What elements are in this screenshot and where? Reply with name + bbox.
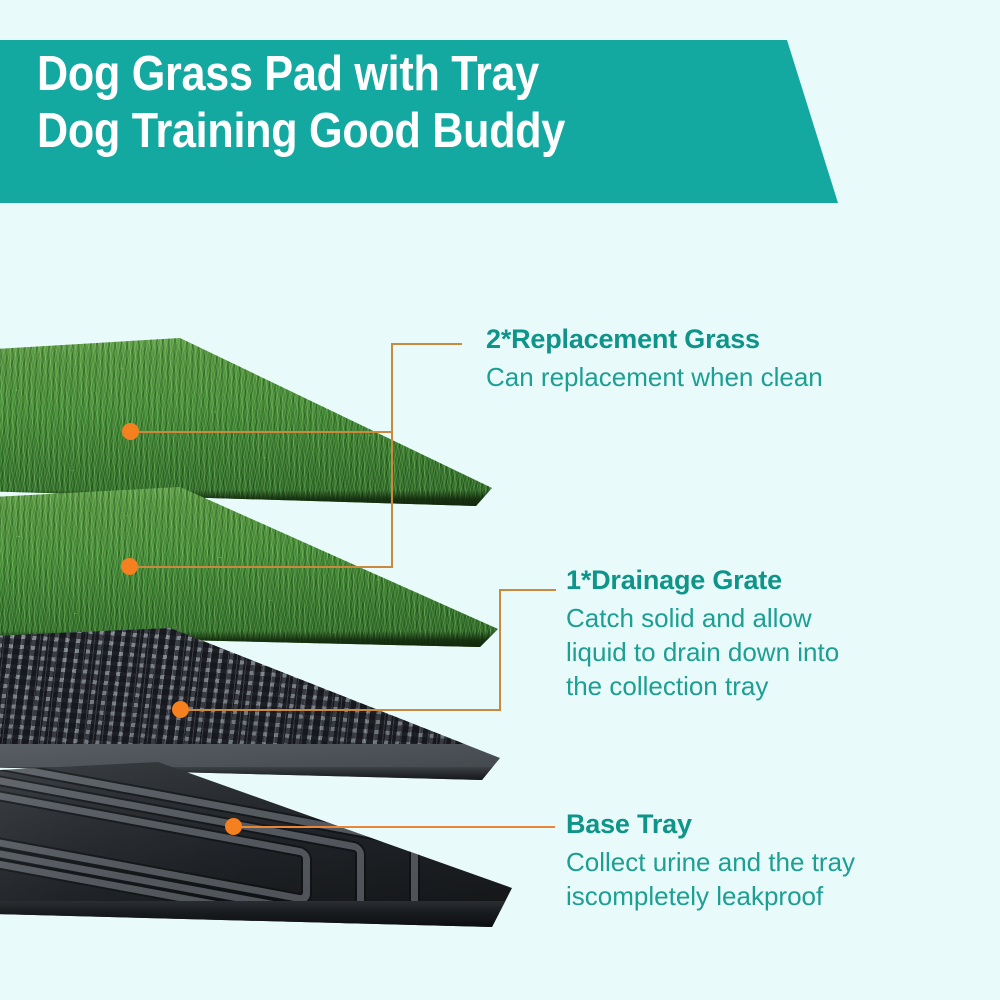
callout-body-drainage-grate: Catch solid and allow liquid to drain do… [566, 601, 839, 704]
product-layer-base-tray [0, 762, 520, 927]
infographic-canvas: Dog Grass Pad with Tray Dog Training Goo… [0, 0, 1000, 1000]
callout-body-line: the collection tray [566, 669, 839, 703]
header-title-line-1: Dog Grass Pad with Tray [37, 46, 706, 103]
header-title: Dog Grass Pad with Tray Dog Training Goo… [37, 46, 706, 160]
callout-base-tray: Base Tray Collect urine and the tray isc… [566, 810, 855, 913]
callout-body-line: Can replacement when clean [486, 360, 823, 394]
callout-drainage-grate: 1*Drainage Grate Catch solid and allow l… [566, 566, 839, 704]
callout-body-replacement-grass: Can replacement when clean [486, 360, 823, 394]
leader-line-grass-top-branch [391, 343, 462, 345]
callout-body-line: liquid to drain down into [566, 635, 839, 669]
callout-body-base-tray: Collect urine and the tray iscompletely … [566, 845, 855, 914]
grass-texture [0, 338, 500, 506]
callout-replacement-grass: 2*Replacement Grass Can replacement when… [486, 325, 823, 394]
callout-title-drainage-grate: 1*Drainage Grate [566, 566, 839, 596]
callout-body-line: iscompletely leakproof [566, 879, 855, 913]
callout-body-line: Catch solid and allow [566, 601, 839, 635]
tray-lip [0, 901, 520, 927]
marker-dot-grass-bottom [121, 558, 138, 575]
callout-body-line: Collect urine and the tray [566, 845, 855, 879]
leader-line-grate-vertical [499, 589, 501, 711]
marker-dot-grass-top [122, 423, 139, 440]
callout-title-replacement-grass: 2*Replacement Grass [486, 325, 823, 355]
product-layer-grass-top [0, 338, 500, 506]
leader-line-grate-horizontal [181, 709, 501, 711]
grass-speckle-overlay [0, 338, 500, 506]
marker-dot-tray [225, 818, 242, 835]
grate-surface [0, 628, 505, 780]
product-layer-drainage-grate [0, 628, 505, 780]
leader-line-grass-bottom-horizontal [130, 566, 392, 568]
marker-dot-grate [172, 701, 189, 718]
callout-title-base-tray: Base Tray [566, 810, 855, 840]
leader-line-grass-vertical [391, 343, 393, 568]
leader-line-grass-top-horizontal [131, 431, 393, 433]
header-banner: Dog Grass Pad with Tray Dog Training Goo… [0, 40, 845, 203]
header-title-line-2: Dog Training Good Buddy [37, 103, 706, 160]
leader-line-tray-horizontal [233, 826, 555, 828]
leader-line-grate-branch [499, 589, 556, 591]
